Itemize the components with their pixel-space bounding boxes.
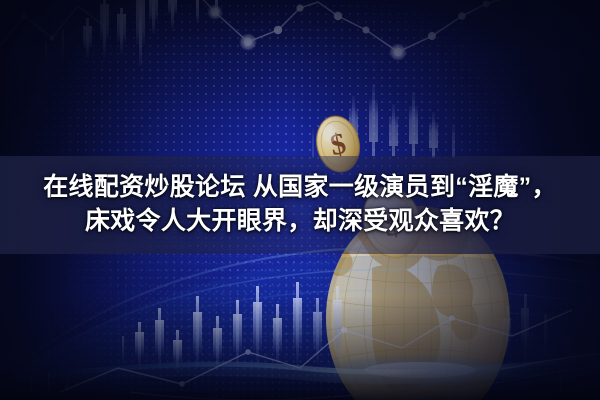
zigzag-line-chart-top (198, 0, 512, 61)
arc-glow-fill (0, 255, 600, 400)
zigzag-line-chart-top-left (0, 6, 104, 46)
globe-base-glow (300, 355, 540, 389)
bottom-tick-bars (30, 370, 582, 392)
candlestick-chart-mid (312, 84, 455, 158)
zigzag-line-chart-bottom (60, 310, 572, 392)
arc-group-left (0, 247, 600, 400)
title-line-1: 在线配资炒股论坛 从国家一级演员到“淫魔”， (43, 172, 557, 203)
candlestick-chart-bottom-mid (313, 286, 342, 366)
candlestick-chart-bottom-right (503, 294, 547, 362)
candlestick-chart-bottom-left (122, 282, 302, 372)
banner-title: 在线配资炒股论坛 从国家一级演员到“淫魔”， 床戏令人大开眼界，却深受观众喜欢？ (0, 152, 600, 256)
banner-image: $ $ 在线配资炒股论坛 从国家一级演员到“淫魔”， 床戏令人大开眼界，却深受观… (0, 0, 600, 400)
globe-parallels (326, 244, 510, 388)
candlestick-chart-top-left (45, 0, 218, 66)
title-line-2: 床戏令人大开眼界，却深受观众喜欢？ (85, 206, 515, 237)
horizon-sweep (0, 352, 600, 400)
